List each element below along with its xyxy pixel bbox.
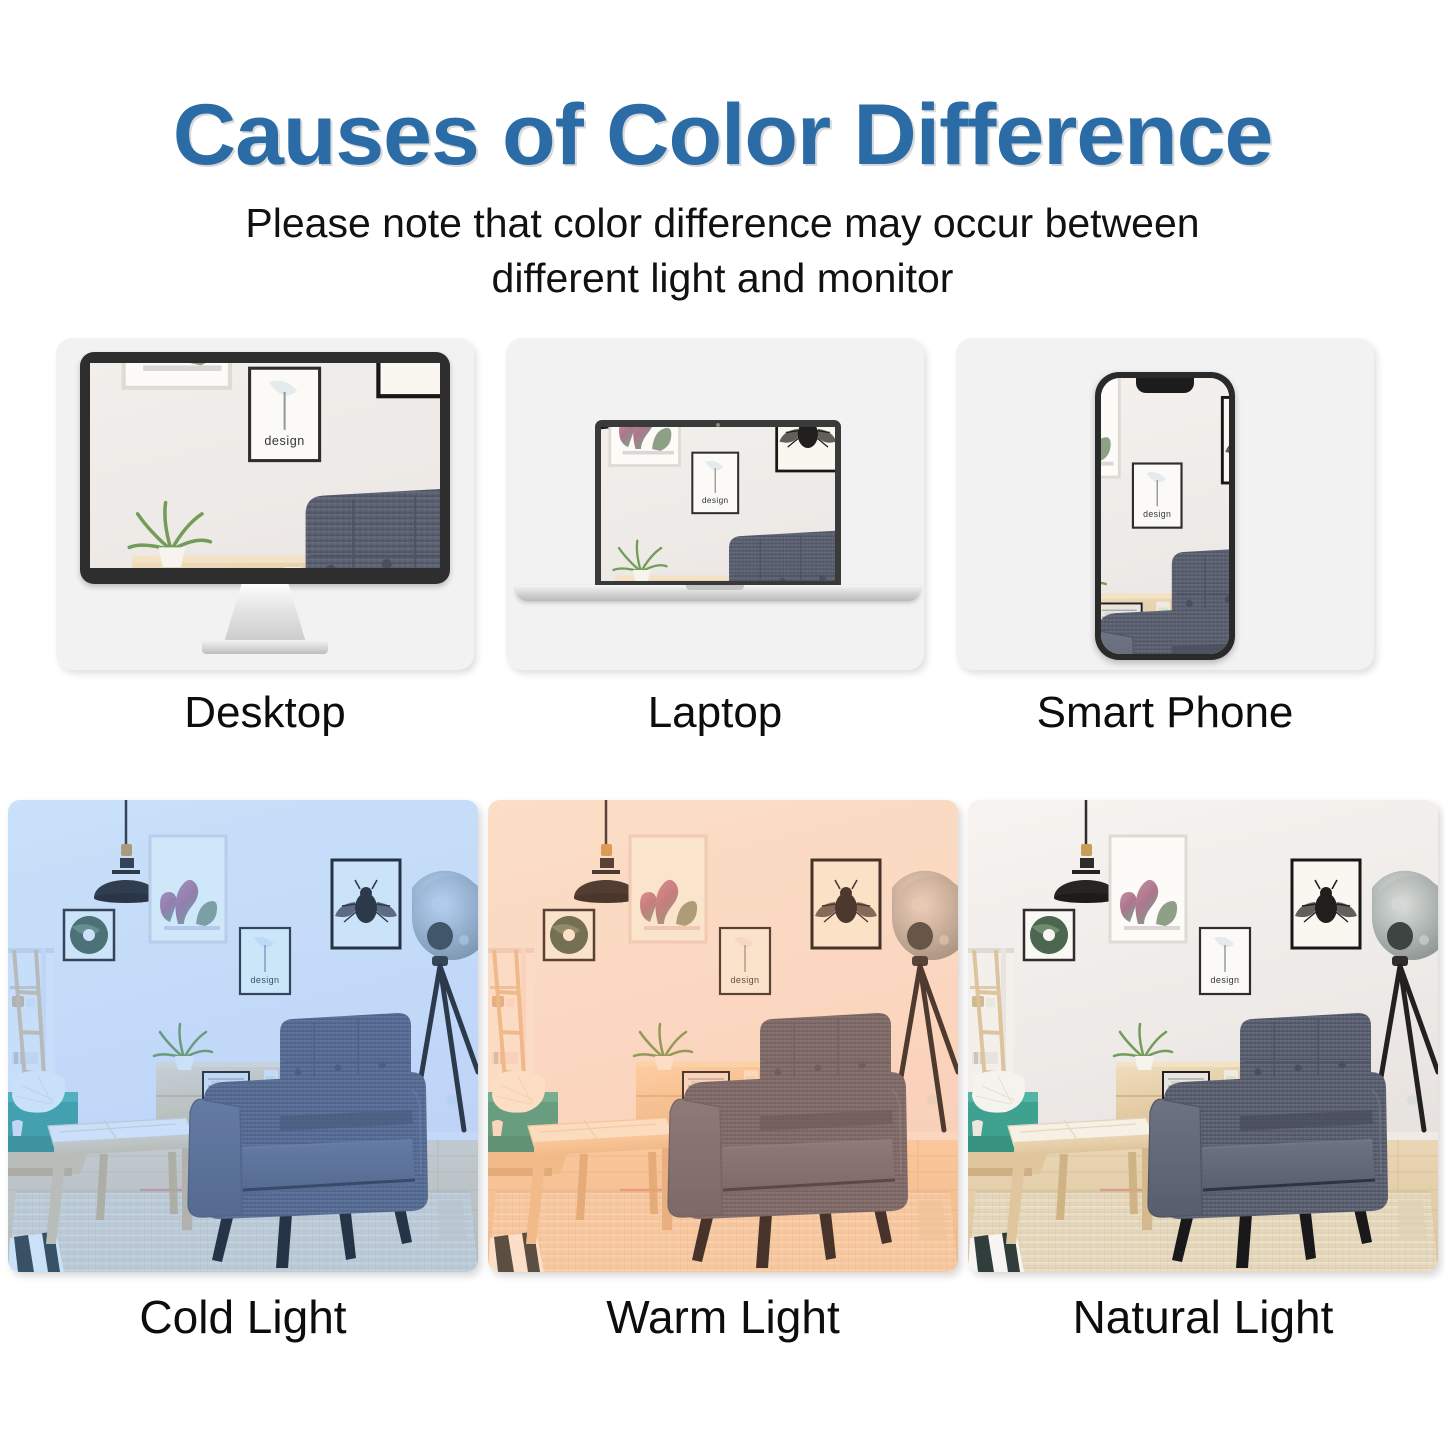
lighting-label-cold: Cold Light — [8, 1290, 478, 1344]
device-card-desktop[interactable] — [56, 338, 474, 670]
device-row — [0, 338, 1445, 678]
smartphone-icon — [1095, 372, 1235, 660]
monitor-stand-neck — [223, 584, 307, 646]
lighting-label-natural: Natural Light — [968, 1290, 1438, 1344]
laptop-camera-icon — [716, 423, 720, 427]
monitor-screen — [90, 363, 440, 568]
device-label-desktop: Desktop — [56, 688, 474, 738]
photo-card-natural-light[interactable] — [968, 800, 1438, 1272]
lighting-label-warm: Warm Light — [488, 1290, 958, 1344]
scene-on-phone — [1101, 378, 1229, 654]
laptop-icon — [595, 420, 841, 586]
device-card-smartphone[interactable] — [956, 338, 1374, 670]
scene-on-monitor — [90, 363, 440, 568]
phone-notch — [1136, 378, 1194, 393]
device-label-laptop: Laptop — [506, 688, 924, 738]
photo-card-warm-light[interactable] — [488, 800, 958, 1272]
device-card-laptop[interactable] — [506, 338, 924, 670]
phone-screen — [1101, 378, 1229, 654]
monitor-stand-base — [202, 640, 328, 654]
device-label-smartphone: Smart Phone — [956, 688, 1374, 738]
page-title: Causes of Color Difference — [0, 92, 1445, 178]
laptop-screen — [601, 427, 835, 581]
page-subtitle: Please note that color difference may oc… — [183, 196, 1263, 306]
scene-natural-light — [968, 800, 1438, 1272]
scene-on-laptop — [601, 427, 835, 581]
scene-cold-light — [8, 800, 478, 1272]
lighting-row — [0, 800, 1445, 1272]
desktop-monitor-icon — [80, 352, 450, 584]
photo-card-cold-light[interactable] — [8, 800, 478, 1272]
laptop-trackpad-notch — [686, 585, 744, 590]
infographic-page: Causes of Color Difference Please note t… — [0, 0, 1445, 1445]
scene-warm-light — [488, 800, 958, 1272]
